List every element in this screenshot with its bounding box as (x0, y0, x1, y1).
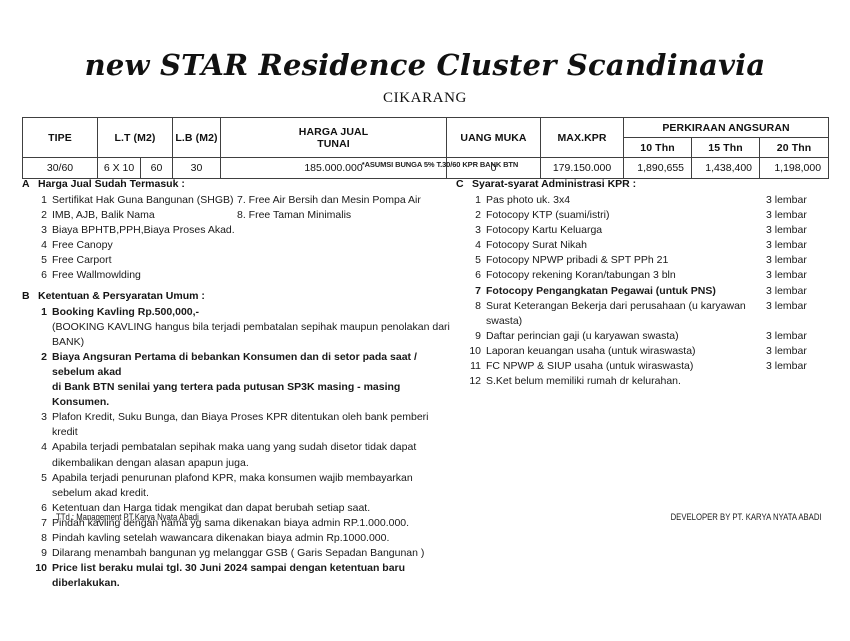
list-item: 7. Free Air Bersih dan Mesin Pompa Air (237, 193, 452, 208)
list-item-text: Pas photo uk. 3x4 (486, 193, 766, 208)
col-header-lt: L.T (M2) (98, 118, 173, 158)
list-item: 3 Fotocopy Kartu Keluarga 3 lembar (456, 223, 832, 238)
list-item-number: 2 (22, 350, 52, 365)
list-item-number: 3 (22, 410, 52, 425)
left-content-column: AHarga Jual Sudah Termasuk : 1 Sertifika… (22, 178, 452, 591)
col-header-15-thn: 15 Thn (692, 138, 760, 158)
list-item-number: 9 (456, 329, 486, 344)
list-item-number: 5 (22, 253, 52, 268)
section-a-letter: A (22, 178, 38, 190)
list-item: 7 Fotocopy Pengangkatan Pegawai (untuk P… (456, 284, 832, 299)
col-header-perkiraan-angsuran: PERKIRAAN ANGSURAN (624, 118, 829, 138)
list-item-text: Plafon Kredit, Suku Bunga, dan Biaya Pro… (52, 410, 452, 440)
list-item-quantity: 3 lembar (766, 238, 832, 253)
list-item-number: 12 (456, 374, 486, 389)
list-item: 2 Biaya Angsuran Pertama di bebankan Kon… (22, 350, 452, 380)
section-c-title: Syarat-syarat Administrasi KPR : (472, 178, 636, 190)
col-header-max-kpr: MAX.KPR (541, 118, 624, 158)
list-item-text: (BOOKING KAVLING hangus bila terjadi pem… (52, 320, 452, 350)
section-c-heading: CSyarat-syarat Administrasi KPR : (456, 178, 832, 190)
col-header-harga-jual-line2: TUNAI (221, 138, 446, 150)
footer-developer: DEVELOPER BY PT. KARYA NYATA ABADI (671, 512, 822, 522)
list-item-text: Fotocopy rekening Koran/tabungan 3 bln (486, 268, 766, 283)
list-item-text: Free Carport (52, 253, 452, 268)
price-table: TIPE L.T (M2) L.B (M2) HARGA JUAL TUNAI … (22, 117, 829, 179)
list-item-number: 2 (456, 208, 486, 223)
list-item: 2 Fotocopy KTP (suami/istri) 3 lembar (456, 208, 832, 223)
list-item: 9 Daftar perincian gaji (u karyawan swas… (456, 329, 832, 344)
section-c-letter: C (456, 178, 472, 190)
col-header-harga-jual: HARGA JUAL TUNAI (221, 118, 447, 158)
list-item-number: 5 (22, 471, 52, 486)
col-header-harga-jual-line1: HARGA JUAL (221, 126, 446, 138)
page-header: new STAR Residence Cluster Scandinavia C… (0, 48, 850, 107)
list-item-number: 10 (22, 561, 52, 576)
section-a-heading: AHarga Jual Sudah Termasuk : (22, 178, 452, 190)
list-item: 12 S.Ket belum memiliki rumah dr kelurah… (456, 374, 832, 389)
list-item: 8 Surat Keterangan Bekerja dari perusaha… (456, 299, 832, 329)
list-item: 5 Free Carport (22, 253, 452, 268)
list-item: 6 Free Wallmowlding (22, 268, 452, 283)
list-item-quantity: 3 lembar (766, 299, 832, 314)
list-item-number: 8 (22, 531, 52, 546)
list-item-text: Apabila terjadi pembatalan sepihak maka … (52, 440, 452, 455)
list-item-number: 1 (456, 193, 486, 208)
list-item-quantity: 3 lembar (766, 253, 832, 268)
list-item: 4 Fotocopy Surat Nikah 3 lembar (456, 238, 832, 253)
list-item-quantity: 3 lembar (766, 223, 832, 238)
list-item: 8. Free Taman Minimalis (237, 208, 452, 223)
list-item-text: Fotocopy Pengangkatan Pegawai (untuk PNS… (486, 284, 766, 299)
list-item-text: Fotocopy Surat Nikah (486, 238, 766, 253)
list-item: 1 (BOOKING KAVLING hangus bila terjadi p… (22, 320, 452, 350)
list-item-text: FC NPWP & SIUP usaha (untuk wiraswasta) (486, 359, 766, 374)
list-item-text: Laporan keuangan usaha (untuk wiraswasta… (486, 344, 766, 359)
list-item: 3 Plafon Kredit, Suku Bunga, dan Biaya P… (22, 410, 452, 440)
list-item-text: di Bank BTN senilai yang tertera pada pu… (52, 380, 452, 410)
list-item-number: 4 (22, 440, 52, 455)
list-item: 5 sebelum akad kredit. (22, 486, 452, 501)
list-item-text: Biaya BPHTB,PPH,Biaya Proses Akad. (52, 223, 452, 238)
list-item-quantity: 3 lembar (766, 208, 832, 223)
list-item-number: 3 (22, 223, 52, 238)
list-item: 4 dikembalikan dengan alasan apapun juga… (22, 456, 452, 471)
list-item-quantity: 3 lembar (766, 344, 832, 359)
list-item: 10 Price list beraku mulai tgl. 30 Juni … (22, 561, 452, 591)
list-item-text: Pindah kavling setelah wawancara dikenak… (52, 531, 452, 546)
list-item-quantity: 3 lembar (766, 329, 832, 344)
list-item-number: 7 (22, 516, 52, 531)
col-header-lb: L.B (M2) (173, 118, 221, 158)
list-item-quantity: 3 lembar (766, 284, 832, 299)
section-a-column-2: 7. Free Air Bersih dan Mesin Pompa Air 8… (237, 193, 452, 223)
list-item-number: 4 (456, 238, 486, 253)
section-b-list: 1 Booking Kavling Rp.500,000,- 1 (BOOKIN… (22, 305, 452, 592)
list-item-quantity: 3 lembar (766, 359, 832, 374)
list-item: 1 Booking Kavling Rp.500,000,- (22, 305, 452, 320)
list-item: 1 Pas photo uk. 3x4 3 lembar (456, 193, 832, 208)
page-title: new STAR Residence Cluster Scandinavia (0, 48, 850, 82)
list-item: 2 di Bank BTN senilai yang tertera pada … (22, 380, 452, 410)
list-item-text: S.Ket belum memiliki rumah dr kelurahan. (486, 374, 766, 389)
list-item-text: Price list beraku mulai tgl. 30 Juni 202… (52, 561, 452, 591)
list-item-number: 1 (22, 193, 52, 208)
list-item: 3 Biaya BPHTB,PPH,Biaya Proses Akad. (22, 223, 452, 238)
section-a-title: Harga Jual Sudah Termasuk : (38, 178, 185, 190)
list-item-text: Booking Kavling Rp.500,000,- (52, 305, 452, 320)
list-item-number: 4 (22, 238, 52, 253)
list-item-quantity: 3 lembar (766, 193, 832, 208)
list-item-text: Surat Keterangan Bekerja dari perusahaan… (486, 299, 766, 329)
col-header-20-thn: 20 Thn (760, 138, 829, 158)
list-item-text: sebelum akad kredit. (52, 486, 452, 501)
list-item: 4 Free Canopy (22, 238, 452, 253)
list-item-quantity: 3 lembar (766, 268, 832, 283)
interest-assumption-footnote: *ASUMSI BUNGA 5% T.30/60 KPR BANK BTN (0, 160, 850, 169)
list-item-number: 5 (456, 253, 486, 268)
list-item: 5 Fotocopy NPWP pribadi & SPT PPh 21 3 l… (456, 253, 832, 268)
col-header-10-thn: 10 Thn (624, 138, 692, 158)
list-item: 11 FC NPWP & SIUP usaha (untuk wiraswast… (456, 359, 832, 374)
list-item: 6 Fotocopy rekening Koran/tabungan 3 bln… (456, 268, 832, 283)
list-item-number: 3 (456, 223, 486, 238)
list-item-text: Free Wallmowlding (52, 268, 452, 283)
list-item-number: 2 (22, 208, 52, 223)
list-item-number: 1 (22, 305, 52, 320)
list-item: 10 Laporan keuangan usaha (untuk wiraswa… (456, 344, 832, 359)
list-item-number: 6 (456, 268, 486, 283)
list-item-number: 7 (456, 284, 486, 299)
col-header-tipe: TIPE (23, 118, 98, 158)
list-item: 8 Pindah kavling setelah wawancara diken… (22, 531, 452, 546)
list-item: 9 Dilarang menambah bangunan yg melangga… (22, 546, 452, 561)
table-header-row-1: TIPE L.T (M2) L.B (M2) HARGA JUAL TUNAI … (23, 118, 829, 138)
list-item-text: dikembalikan dengan alasan apapun juga. (52, 456, 452, 471)
list-item-number: 11 (456, 359, 486, 374)
section-b-heading: BKetentuan & Persyaratan Umum : (22, 290, 452, 302)
footer-signature: TTd : Management PT.Karya Nyata Abadi (56, 512, 199, 522)
list-item-text: Free Canopy (52, 238, 452, 253)
section-b-letter: B (22, 290, 38, 302)
section-c-list: 1 Pas photo uk. 3x4 3 lembar 2 Fotocopy … (456, 193, 832, 389)
list-item-number: 8 (456, 299, 486, 314)
page-subtitle: CIKARANG (0, 90, 850, 107)
right-content-column: CSyarat-syarat Administrasi KPR : 1 Pas … (456, 178, 832, 389)
list-item: 4 Apabila terjadi pembatalan sepihak mak… (22, 440, 452, 455)
list-item-text: Fotocopy Kartu Keluarga (486, 223, 766, 238)
list-item-number: 10 (456, 344, 486, 359)
list-item-text: Fotocopy KTP (suami/istri) (486, 208, 766, 223)
list-item-number: 6 (22, 268, 52, 283)
list-item: 5 Apabila terjadi penurunan plafond KPR,… (22, 471, 452, 486)
section-a-list: 1 Sertifikat Hak Guna Bangunan (SHGB) 2 … (22, 193, 452, 284)
list-item-number: 9 (22, 546, 52, 561)
list-item-text: Biaya Angsuran Pertama di bebankan Konsu… (52, 350, 452, 380)
section-b-title: Ketentuan & Persyaratan Umum : (38, 290, 205, 302)
col-header-uang-muka: UANG MUKA (447, 118, 541, 158)
list-item-text: Fotocopy NPWP pribadi & SPT PPh 21 (486, 253, 766, 268)
list-item-text: Daftar perincian gaji (u karyawan swasta… (486, 329, 766, 344)
list-item-number: 6 (22, 501, 52, 516)
list-item-text: Dilarang menambah bangunan yg melanggar … (52, 546, 452, 561)
list-item-text: Apabila terjadi penurunan plafond KPR, m… (52, 471, 452, 486)
